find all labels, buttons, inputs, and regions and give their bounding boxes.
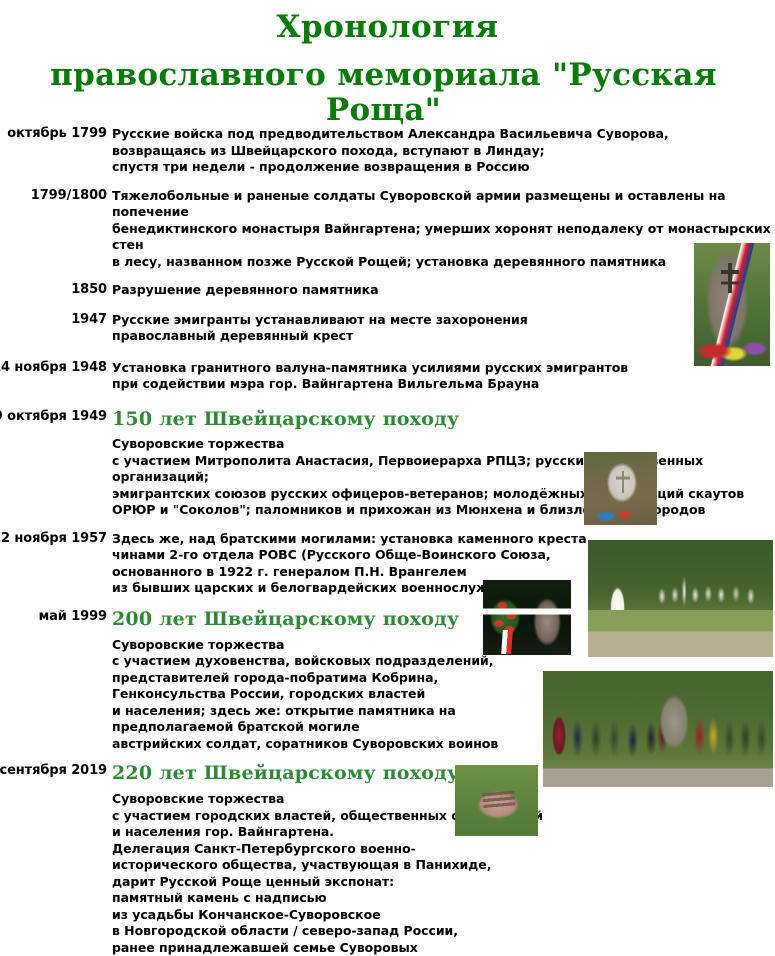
document-title-block: Хронология православного мемориала "Русс…	[0, 0, 775, 129]
timeline-date: 20 сентября 2019	[0, 763, 107, 778]
timeline-date: 1799/1800	[0, 188, 107, 203]
timeline-date: 14 ноября 1948	[0, 360, 107, 375]
photo-granite-boulder-monument	[694, 243, 770, 366]
page-title-primary: Хронология	[0, 10, 775, 46]
photo-ceremony-1999	[588, 540, 773, 657]
timeline-date: 1947	[0, 312, 107, 327]
photo-ceremony-2019	[543, 671, 773, 787]
timeline-date: 1850	[0, 282, 107, 297]
timeline-date: 2 ноября 1957	[0, 531, 107, 546]
photo-stone-cross-over-graves	[584, 452, 657, 525]
timeline-body: Суворовские торжества с участием Митропо…	[112, 436, 775, 519]
timeline-row: октябрь 1799 Русские войска под предводи…	[0, 126, 775, 176]
timeline-row: 14 ноября 1948 Установка гранитного валу…	[0, 360, 775, 393]
timeline-body: Разрушение деревянного памятника	[112, 282, 775, 299]
page-title-secondary: православного мемориала "Русская Роща"	[0, 58, 775, 129]
timeline-anniversary-heading: 150 лет Швейцарскому походу	[112, 409, 775, 430]
timeline-date: октябрь 1799	[0, 126, 107, 141]
timeline-body: Суворовские торжества с участием городск…	[112, 791, 775, 956]
timeline-row: 20 сентября 2019 220 лет Швейцарскому по…	[0, 763, 775, 956]
timeline-row: 8 - 9 октября 1949 150 лет Швейцарскому …	[0, 409, 775, 519]
timeline-body: Установка гранитного валуна-памятника ус…	[112, 360, 775, 393]
timeline-row: 1799/1800 Тяжелобольные и раненые солдат…	[0, 188, 775, 271]
photo-memorial-stone-2019	[455, 765, 538, 836]
timeline-row: 1850 Разрушение деревянного памятника	[0, 282, 775, 299]
timeline-row: 1947 Русские эмигранты устанавливают на …	[0, 312, 775, 345]
timeline-date: май 1999	[0, 609, 107, 624]
timeline-body: Тяжелобольные и раненые солдаты Суворовс…	[112, 188, 775, 271]
timeline-body: Русские войска под предводительством Але…	[112, 126, 775, 176]
timeline-date: 8 - 9 октября 1949	[0, 409, 107, 424]
photo-wreath-beside-new-stone	[483, 580, 571, 655]
timeline-body: Русские эмигранты устанавливают на месте…	[112, 312, 775, 345]
